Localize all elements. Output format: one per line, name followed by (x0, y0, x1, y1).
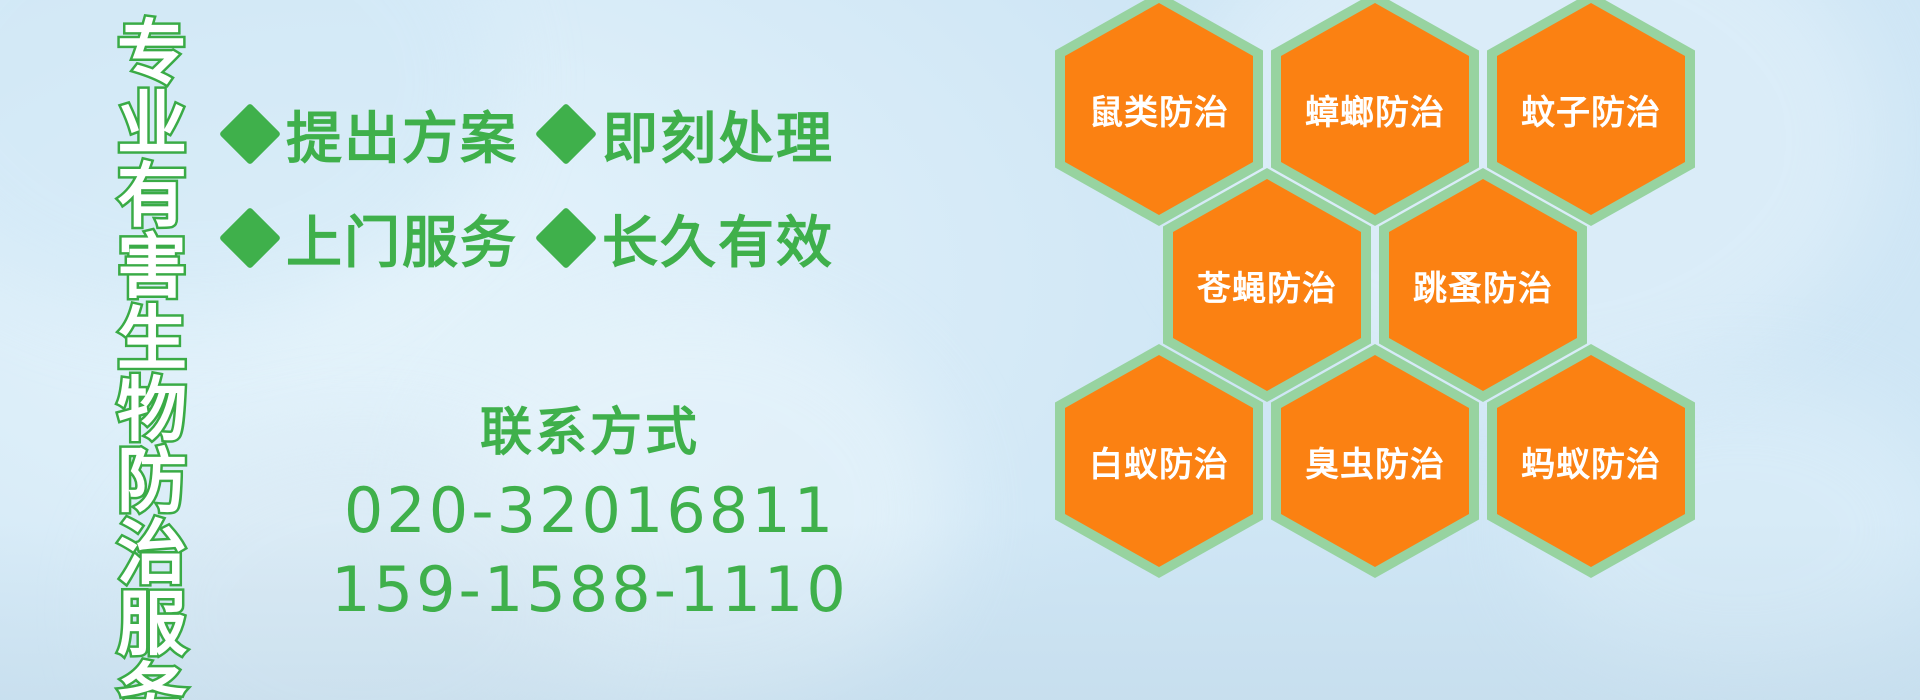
feature-row: 上门服务 长久有效 (228, 186, 868, 290)
service-label: 白蚁防治 (1089, 437, 1229, 486)
vertical-headline-char: 务 (117, 661, 187, 700)
service-label: 臭虫防治 (1305, 437, 1445, 486)
vertical-headline-char: 服 (117, 589, 187, 660)
service-label: 鼠类防治 (1089, 85, 1229, 134)
contact-heading: 联系方式 (300, 390, 880, 465)
feature-item-immediate-handling: 即刻处理 (544, 94, 834, 175)
hexagon-inner: 蟑螂防治 (1281, 3, 1469, 215)
feature-item-propose-plan: 提出方案 (228, 94, 518, 175)
vertical-headline-char: 有 (117, 161, 187, 232)
hexagon-inner: 苍蝇防治 (1173, 179, 1361, 391)
hexagon-inner: 蚂蚁防治 (1497, 355, 1685, 567)
diamond-icon (219, 207, 281, 269)
service-label: 蟑螂防治 (1305, 85, 1445, 134)
vertical-headline: 专 业 有 害 生 物 防 治 服 务 (104, 18, 200, 588)
service-label: 蚂蚁防治 (1521, 437, 1661, 486)
feature-label: 长久有效 (602, 198, 834, 279)
vertical-headline-char: 治 (117, 518, 187, 589)
pest-control-banner: 专 业 有 害 生 物 防 治 服 务 提出方案 即刻处理 上门服务 (0, 0, 1920, 700)
hexagon-inner: 蚊子防治 (1497, 3, 1685, 215)
vertical-headline-char: 生 (117, 304, 187, 375)
feature-label: 提出方案 (286, 94, 518, 175)
service-label: 苍蝇防治 (1197, 261, 1337, 310)
service-label: 蚊子防治 (1521, 85, 1661, 134)
diamond-icon (535, 207, 597, 269)
vertical-headline-char: 防 (117, 446, 187, 517)
diamond-icon (535, 103, 597, 165)
service-hexagon-grid: 鼠类防治 蟑螂防治 蚊子防治 苍蝇防治 跳蚤防治 白蚁防治 (1055, 0, 1775, 688)
vertical-headline-char: 物 (117, 375, 187, 446)
hexagon-inner: 跳蚤防治 (1389, 179, 1577, 391)
hexagon-inner: 鼠类防治 (1065, 3, 1253, 215)
contact-block: 联系方式 020-32016811 159-1588-1110 (300, 390, 880, 630)
feature-label: 上门服务 (286, 198, 518, 279)
hexagon-inner: 白蚁防治 (1065, 355, 1253, 567)
diamond-icon (219, 103, 281, 165)
vertical-headline-char: 专 (117, 18, 187, 89)
vertical-headline-char: 业 (117, 89, 187, 160)
contact-phone-mobile[interactable]: 159-1588-1110 (300, 550, 880, 629)
hexagon-inner: 臭虫防治 (1281, 355, 1469, 567)
feature-list: 提出方案 即刻处理 上门服务 长久有效 (228, 82, 868, 290)
feature-row: 提出方案 即刻处理 (228, 82, 868, 186)
feature-item-long-lasting: 长久有效 (544, 198, 834, 279)
vertical-headline-char: 害 (117, 232, 187, 303)
feature-item-onsite-service: 上门服务 (228, 198, 518, 279)
service-label: 跳蚤防治 (1413, 261, 1553, 310)
feature-label: 即刻处理 (602, 94, 834, 175)
contact-phone-landline[interactable]: 020-32016811 (300, 471, 880, 550)
